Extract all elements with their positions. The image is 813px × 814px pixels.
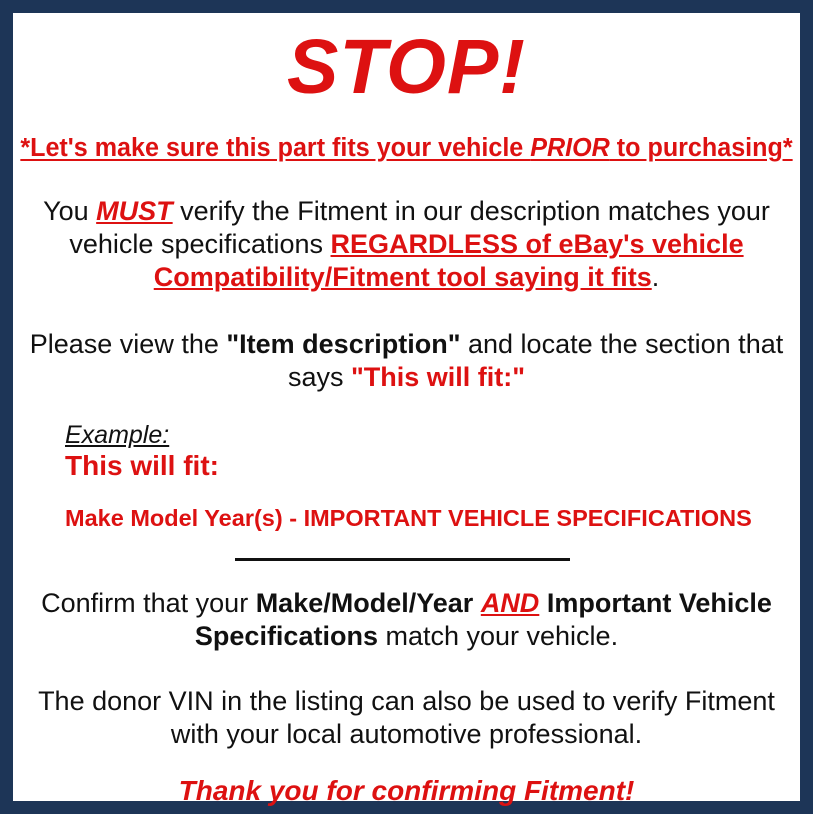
confirm-part2: match your vehicle. <box>378 621 618 651</box>
confirm-paragraph: Confirm that your Make/Model/Year AND Im… <box>32 561 782 653</box>
subheadline-part1: *Let's make sure this part fits your veh… <box>20 134 530 162</box>
example-block: Example: This will fit: Make Model Year(… <box>13 394 800 532</box>
must-emphasis: MUST <box>96 196 173 226</box>
confirm-part1: Confirm that your <box>41 588 256 618</box>
thank-you-message: Thank you for confirming Fitment! <box>13 751 800 807</box>
vin-paragraph: The donor VIN in the listing can also be… <box>17 653 797 751</box>
must-paragraph-part3: . <box>652 262 660 292</box>
page-title: STOP! <box>13 13 800 106</box>
subheadline: *Let's make sure this part fits your veh… <box>19 106 794 162</box>
example-fitment-line: Make Model Year(s) - IMPORTANT VEHICLE S… <box>65 506 800 532</box>
divider-wrapper <box>13 531 800 561</box>
fitment-notice-frame: STOP! *Let's make sure this part fits yo… <box>0 0 813 814</box>
example-label: Example: <box>65 422 169 450</box>
example-label-row: Example: <box>65 422 800 450</box>
itemdesc-part1: Please view the <box>30 329 227 359</box>
fitment-notice-body: STOP! *Let's make sure this part fits yo… <box>13 13 800 801</box>
and-emphasis: AND <box>481 588 540 618</box>
subheadline-part2: to purchasing* <box>610 134 793 162</box>
must-verify-paragraph: You MUST verify the Fitment in our descr… <box>27 162 787 294</box>
this-will-fit-emphasis: "This will fit:" <box>351 362 525 392</box>
subheadline-emphasis-prior: PRIOR <box>530 134 610 162</box>
item-description-emphasis: "Item description" <box>226 329 460 359</box>
item-description-paragraph: Please view the "Item description" and l… <box>27 294 787 394</box>
example-this-will-fit: This will fit: <box>65 450 800 481</box>
must-paragraph-part1: You <box>43 196 96 226</box>
vin-line-1: The donor VIN in the listing can also be… <box>17 685 797 718</box>
make-model-year-emphasis: Make/Model/Year <box>256 588 474 618</box>
vin-line-2: with your local automotive professional. <box>17 718 797 751</box>
